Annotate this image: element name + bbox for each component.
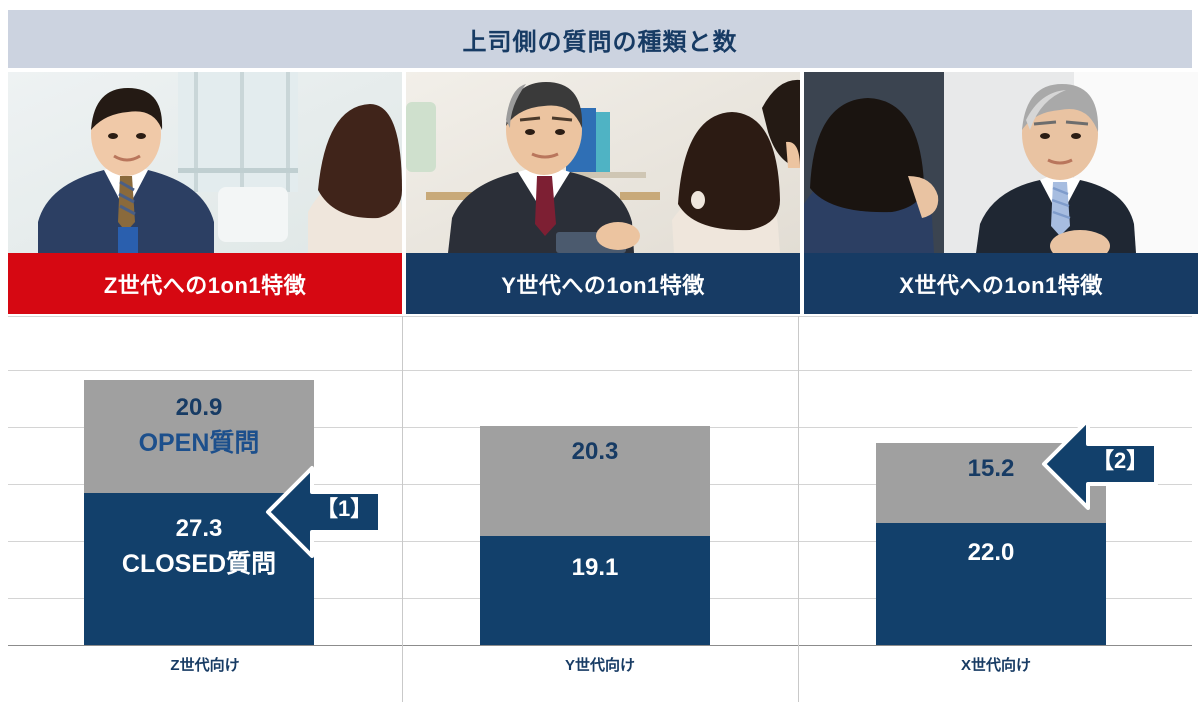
- bar-value-open-z: 20.9: [176, 396, 223, 420]
- bar-value-open-y: 20.3: [572, 440, 619, 464]
- photo-art-y: [406, 72, 800, 253]
- bar-series-label-open: OPEN質問: [139, 430, 260, 458]
- column-separator-1: [402, 316, 403, 702]
- bar-segment-open-y: 20.3: [480, 426, 710, 536]
- bar-segment-closed-y: 19.1: [480, 536, 710, 645]
- young-man-interview-photo: [8, 72, 402, 253]
- photo-art-x: [804, 72, 1198, 253]
- bar-series-label-closed: CLOSED質問: [122, 551, 276, 579]
- banner-label-z: Z世代への1on1特徴: [104, 268, 306, 300]
- callout-tag-2: 【2】: [1092, 450, 1148, 472]
- middle-aged-man-interview-photo: [406, 72, 800, 253]
- banner-label-x: X世代への1on1特徴: [899, 268, 1103, 300]
- callout-arrow-2[interactable]: 【2】: [1040, 416, 1160, 512]
- slide-root: 上司側の質問の種類と数: [0, 0, 1200, 712]
- bar-value-closed-z: 27.3: [176, 517, 223, 541]
- bar-value-closed-y: 19.1: [572, 556, 619, 580]
- banner-y: Y世代への1on1特徴: [406, 253, 800, 314]
- bar-group-y: 20.3 19.1: [480, 426, 710, 645]
- banner-z: Z世代への1on1特徴: [8, 253, 402, 314]
- slide-title-bar: 上司側の質問の種類と数: [8, 10, 1192, 68]
- callout-arrow-1[interactable]: 【1】: [264, 464, 384, 560]
- photo-art-z: [8, 72, 402, 253]
- senior-man-interview-photo: [804, 72, 1198, 253]
- generation-column-y: Y世代への1on1特徴: [406, 72, 800, 314]
- gridline-50: [8, 316, 1192, 317]
- x-axis-label-y: Y世代向け: [403, 654, 797, 675]
- callout-tag-1: 【1】: [316, 498, 372, 520]
- bar-value-open-x: 15.2: [968, 457, 1015, 481]
- generation-column-x: X世代への1on1特徴: [804, 72, 1198, 314]
- x-axis-label-z: Z世代向け: [8, 654, 402, 675]
- column-separator-2: [798, 316, 799, 702]
- generation-column-z: Z世代への1on1特徴: [8, 72, 402, 314]
- gridline-40: [8, 370, 1192, 371]
- x-axis-label-x: X世代向け: [799, 654, 1193, 675]
- bar-segment-closed-x: 22.0: [876, 523, 1106, 645]
- banner-label-y: Y世代への1on1特徴: [501, 268, 705, 300]
- stacked-bar-chart: 20.9 OPEN質問 27.3 CLOSED質問 20.3 19.1 15.2…: [8, 316, 1192, 702]
- page-title: 上司側の質問の種類と数: [463, 22, 738, 57]
- banner-x: X世代への1on1特徴: [804, 253, 1198, 314]
- axis-baseline: [8, 645, 1192, 646]
- bar-value-closed-x: 22.0: [968, 541, 1015, 565]
- generation-columns: Z世代への1on1特徴: [8, 72, 1192, 314]
